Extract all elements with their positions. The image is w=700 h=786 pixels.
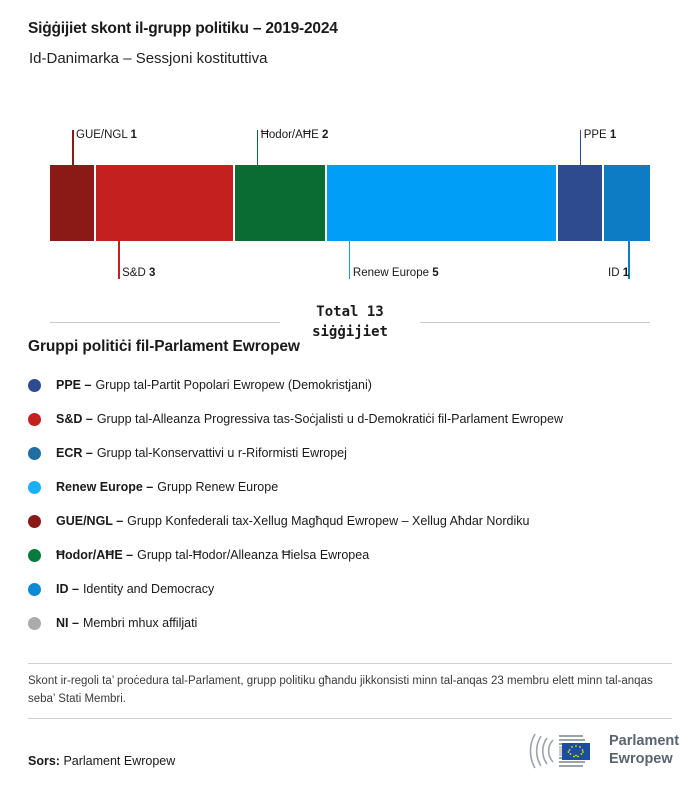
callout-label-id: ID 1 — [608, 268, 629, 280]
legend-item-abbr: NI – — [56, 616, 79, 630]
callout-label--odor-a-e: Ħodor/AĦE 2 — [261, 130, 329, 142]
infographic-page: Siġġijiet skont il-grupp politiku – 2019… — [0, 0, 700, 786]
logo-text: Parlament Ewropew — [609, 733, 679, 768]
bar-segment-gue-ngl[interactable] — [50, 165, 96, 241]
callout-group-name: Ħodor/AĦE — [261, 129, 319, 141]
callout-group-value: 5 — [432, 267, 438, 279]
seat-bar — [50, 165, 650, 241]
legend-item[interactable]: ECR –Grupp tal-Konservattivi u r-Riformi… — [28, 436, 678, 470]
european-parliament-logo: Parlament Ewropew — [529, 729, 679, 775]
legend-item-description: Membri mhux affiljati — [83, 616, 197, 630]
legend-item-description: Grupp tal-Konservattivi u r-Riformisti E… — [97, 446, 347, 460]
total-divider-right — [420, 322, 650, 323]
bar-segment-s-d[interactable] — [96, 165, 234, 241]
total-divider-left — [50, 322, 280, 323]
footnote: Skont ir-regoli ta’ proċedura tal-Parlam… — [28, 673, 676, 709]
source-line: Sors: Parlament Ewropew — [28, 754, 175, 768]
callout-leader-s-d — [118, 241, 120, 279]
legend-item[interactable]: S&D –Grupp tal-Alleanza Progressiva tas-… — [28, 402, 678, 436]
legend-color-swatch-icon — [28, 515, 41, 528]
legend-item[interactable]: Renew Europe –Grupp Renew Europe — [28, 470, 678, 504]
total-seats-count: Total 13 — [280, 302, 420, 322]
bar-segment-ppe[interactable] — [558, 165, 604, 241]
total-seats-unit: siġġijiet — [280, 322, 420, 342]
legend-item-description: Identity and Democracy — [83, 582, 214, 596]
legend-item-abbr: S&D – — [56, 412, 93, 426]
legend-color-swatch-icon — [28, 413, 41, 426]
callout-group-value: 2 — [322, 129, 328, 141]
callout-label-renew-europe: Renew Europe 5 — [353, 268, 439, 280]
bar-segment-renew-europe[interactable] — [327, 165, 558, 241]
stacked-bar-chart: GUE/NGL 1S&D 3Ħodor/AĦE 2Renew Europe 5P… — [0, 0, 700, 300]
legend-item[interactable]: GUE/NGL –Grupp Konfederali tax-Xellug Ma… — [28, 504, 678, 538]
footer-rule-bottom — [28, 718, 672, 719]
legend-item-description: Grupp tal-Partit Popolari Ewropew (Demok… — [95, 378, 371, 392]
legend-color-swatch-icon — [28, 379, 41, 392]
legend-item-abbr: Ħodor/AĦE – — [56, 548, 133, 562]
legend-item[interactable]: NI –Membri mhux affiljati — [28, 606, 678, 640]
legend-item[interactable]: ID –Identity and Democracy — [28, 572, 678, 606]
legend-item-description: Grupp Renew Europe — [157, 480, 278, 494]
callout-group-value: 1 — [623, 267, 629, 279]
callout-group-value: 1 — [131, 129, 137, 141]
legend-item-abbr: Renew Europe – — [56, 480, 153, 494]
callout-leader-renew-europe — [349, 241, 351, 279]
callout-group-name: ID — [608, 267, 620, 279]
total-seats: Total 13 siġġijiet — [280, 302, 420, 343]
bar-segment--odor-a-e[interactable] — [235, 165, 327, 241]
legend-list: PPE –Grupp tal-Partit Popolari Ewropew (… — [28, 368, 678, 640]
callout-label-s-d: S&D 3 — [122, 268, 155, 280]
callout-leader--odor-a-e — [257, 130, 259, 165]
legend-color-swatch-icon — [28, 549, 41, 562]
callout-group-name: GUE/NGL — [76, 129, 127, 141]
callout-group-name: Renew Europe — [353, 267, 429, 279]
callout-label-ppe: PPE 1 — [584, 130, 617, 142]
legend-item-description: Grupp tal-Ħodor/Alleanza Ħielsa Ewropea — [137, 548, 369, 562]
logo-line-1: Parlament — [609, 733, 679, 751]
legend-item[interactable]: Ħodor/AĦE –Grupp tal-Ħodor/Alleanza Ħiel… — [28, 538, 678, 572]
legend-item-abbr: PPE – — [56, 378, 91, 392]
legend-color-swatch-icon — [28, 583, 41, 596]
source-label: Sors: — [28, 754, 60, 768]
callout-label-gue-ngl: GUE/NGL 1 — [76, 130, 137, 142]
bar-segment-id[interactable] — [604, 165, 650, 241]
legend-color-swatch-icon — [28, 617, 41, 630]
callout-leader-gue-ngl — [72, 130, 74, 165]
logo-line-2: Ewropew — [609, 751, 679, 769]
legend-title: Gruppi politiċi fil-Parlament Ewropew — [28, 338, 300, 356]
hemicycle-icon — [529, 729, 605, 773]
legend-item-description: Grupp Konfederali tax-Xellug Magħqud Ewr… — [127, 514, 529, 528]
callout-group-name: S&D — [122, 267, 146, 279]
source-value: Parlament Ewropew — [63, 754, 175, 768]
legend-color-swatch-icon — [28, 481, 41, 494]
callout-group-value: 3 — [149, 267, 155, 279]
callout-leader-ppe — [580, 130, 582, 165]
legend-item[interactable]: PPE –Grupp tal-Partit Popolari Ewropew (… — [28, 368, 678, 402]
legend-item-abbr: ECR – — [56, 446, 93, 460]
legend-item-description: Grupp tal-Alleanza Progressiva tas-Soċja… — [97, 412, 563, 426]
legend-color-swatch-icon — [28, 447, 41, 460]
footer-rule-top — [28, 663, 672, 664]
legend-item-abbr: GUE/NGL – — [56, 514, 123, 528]
legend-item-abbr: ID – — [56, 582, 79, 596]
callout-group-name: PPE — [584, 129, 607, 141]
callout-group-value: 1 — [610, 129, 616, 141]
